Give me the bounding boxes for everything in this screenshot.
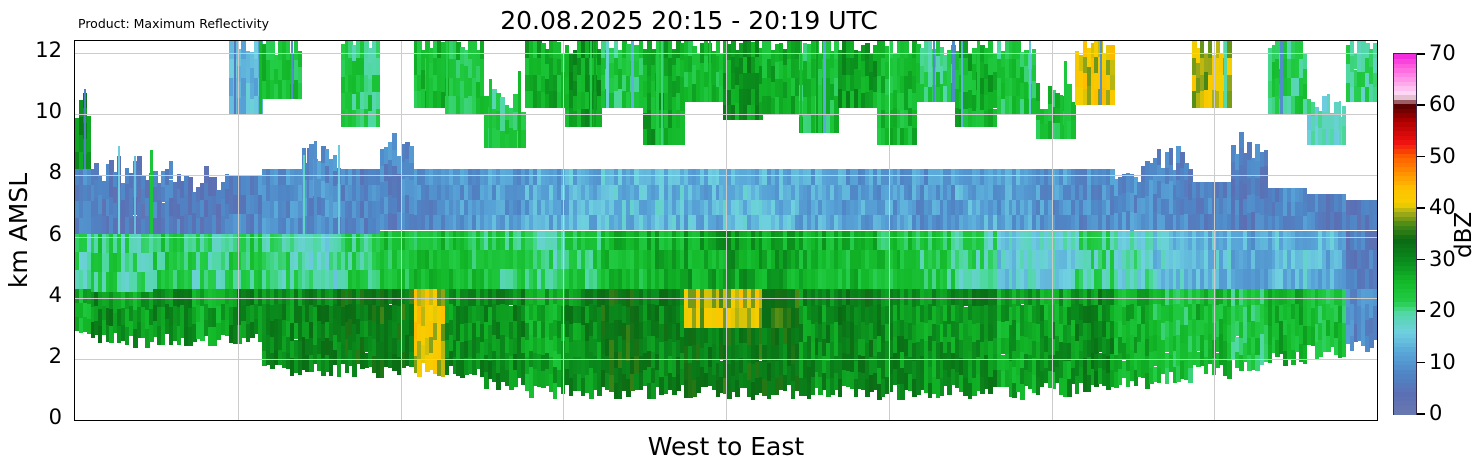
reflectivity-cell: [912, 110, 917, 127]
x-gridline: [563, 41, 564, 420]
reflectivity-cell: [298, 67, 303, 83]
reflectivity-cell: [137, 156, 142, 172]
figure-title: 20.08.2025 20:15 - 20:19 UTC: [0, 6, 1378, 35]
reflectivity-cell: [1157, 149, 1162, 165]
reflectivity-cell: [1342, 126, 1347, 145]
colorbar-segment: [1394, 351, 1416, 356]
reflectivity-cell: [1373, 43, 1378, 58]
reflectivity-cell: [1110, 45, 1115, 60]
colorbar-segment: [1394, 405, 1416, 410]
y-axis-tick: [74, 419, 75, 420]
reflectivity-cell: [1032, 65, 1037, 81]
reflectivity-cell: [1373, 231, 1378, 250]
x-axis-tick: [401, 420, 402, 421]
colorbar-segment: [1394, 338, 1416, 343]
reflectivity-cell: [1036, 83, 1041, 102]
colorbar-segment: [1394, 378, 1416, 383]
reflectivity-cell: [376, 75, 381, 92]
reflectivity-cell: [1110, 90, 1115, 105]
reflectivity-cell: [87, 116, 92, 134]
colorbar-segment: [1394, 342, 1416, 347]
reflectivity-cell: [1264, 150, 1269, 166]
y-axis-tick: [74, 358, 75, 359]
x-axis-tick: [1052, 420, 1053, 421]
reflectivity-cell: [1067, 84, 1072, 102]
echo-spike: [259, 41, 261, 114]
colorbar-segment: [1394, 374, 1416, 379]
reflectivity-cell: [480, 78, 485, 96]
y-axis-tick: [74, 114, 75, 115]
reflectivity-cell: [376, 92, 381, 109]
colorbar-gradient: [1393, 53, 1417, 415]
reflectivity-cell: [1373, 58, 1378, 73]
x-axis-label: West to East: [74, 432, 1378, 461]
reflectivity-cell: [1373, 73, 1378, 88]
reflectivity-cell: [1110, 60, 1115, 75]
reflectivity-cell: [1264, 166, 1269, 182]
colorbar-segment: [1394, 401, 1416, 406]
reflectivity-cell: [1322, 96, 1327, 112]
x-axis-tick: [726, 420, 727, 421]
reflectivity-cell: [1227, 41, 1232, 58]
reflectivity-cell: [1303, 84, 1308, 99]
reflectivity-cell: [1303, 69, 1308, 84]
colorbar-segment: [1394, 396, 1416, 401]
reflectivity-cell: [1169, 148, 1174, 164]
reflectivity-cell: [1110, 75, 1115, 90]
reflectivity-cell: [1373, 323, 1378, 340]
y-axis-tick: [74, 175, 75, 176]
colorbar-segment: [1394, 365, 1416, 370]
radar-cross-section-figure: Product: Maximum Reflectivity 20.08.2025…: [0, 0, 1482, 470]
reflectivity-cell: [87, 152, 92, 170]
x-gridline: [726, 41, 727, 420]
y-axis-tick: [74, 236, 75, 237]
reflectivity-cell: [1373, 215, 1378, 230]
x-axis-tick: [238, 420, 239, 421]
reflectivity-cell: [1342, 106, 1347, 125]
colorbar-segment: [1394, 329, 1416, 334]
colorbar-segment: [1394, 360, 1416, 365]
reflectivity-cell: [1020, 384, 1025, 400]
colorbar-segment: [1394, 410, 1416, 415]
reflectivity-cell: [912, 128, 917, 145]
reflectivity-cell: [1239, 132, 1244, 148]
reflectivity-cell: [521, 130, 526, 148]
reflectivity-cell: [376, 58, 381, 75]
reflectivity-cell: [1188, 368, 1193, 384]
colorbar-segment: [1394, 383, 1416, 388]
reflectivity-cell: [1373, 87, 1378, 102]
colorbar-segment: [1394, 387, 1416, 392]
x-gridline: [401, 41, 402, 420]
reflectivity-cell: [1032, 49, 1037, 65]
reflectivity-cell: [409, 146, 414, 163]
colorbar-segment: [1394, 347, 1416, 352]
x-axis-tick: [563, 420, 564, 421]
reflectivity-cell: [169, 161, 174, 179]
reflectivity-cell: [1303, 54, 1308, 69]
x-gridline: [238, 41, 239, 420]
reflectivity-cell: [376, 109, 381, 126]
colorbar-segment: [1394, 315, 1416, 320]
reflectivity-cell: [480, 41, 485, 59]
reflectivity-cell: [87, 134, 92, 152]
reflectivity-cell: [1227, 361, 1232, 379]
colorbar: 010203040506070: [1393, 53, 1417, 415]
colorbar-segment: [1394, 392, 1416, 397]
reflectivity-cell: [834, 114, 839, 132]
y-gridline: [75, 420, 1377, 421]
reflectivity-cell: [1303, 345, 1308, 364]
x-gridline: [1214, 41, 1215, 420]
reflectivity-cell: [1227, 91, 1232, 108]
colorbar-segment: [1394, 324, 1416, 329]
colorbar-segment: [1394, 306, 1416, 311]
reflectivity-cell: [298, 83, 303, 99]
y-axis-tick: [74, 297, 75, 298]
colorbar-segment: [1394, 369, 1416, 374]
y-axis-tick: [74, 53, 75, 54]
reflectivity-cell: [1373, 250, 1378, 269]
reflectivity-cell: [392, 133, 397, 149]
colorbar-segment: [1394, 320, 1416, 325]
colorbar-segment: [1394, 333, 1416, 338]
reflectivity-cell: [513, 94, 518, 112]
reflectivity-cell: [1071, 120, 1076, 138]
colorbar-segment: [1394, 311, 1416, 316]
plot-area: [74, 40, 1378, 421]
reflectivity-cell: [480, 59, 485, 77]
reflectivity-cell: [376, 41, 381, 58]
x-axis-tick: [889, 420, 890, 421]
x-gridline: [1052, 41, 1053, 420]
reflectivity-cell: [1055, 93, 1060, 108]
reflectivity-cell: [680, 128, 685, 145]
reflectivity-cell: [1373, 269, 1378, 288]
colorbar-segment: [1394, 302, 1416, 307]
reflectivity-cell: [1227, 58, 1232, 75]
colorbar-segment: [1394, 356, 1416, 361]
reflectivity-cell: [1373, 306, 1378, 323]
x-gridline: [889, 41, 890, 420]
reflectivity-cell: [1373, 200, 1378, 215]
x-axis-tick: [1214, 420, 1215, 421]
reflectivity-cell: [1227, 75, 1232, 92]
